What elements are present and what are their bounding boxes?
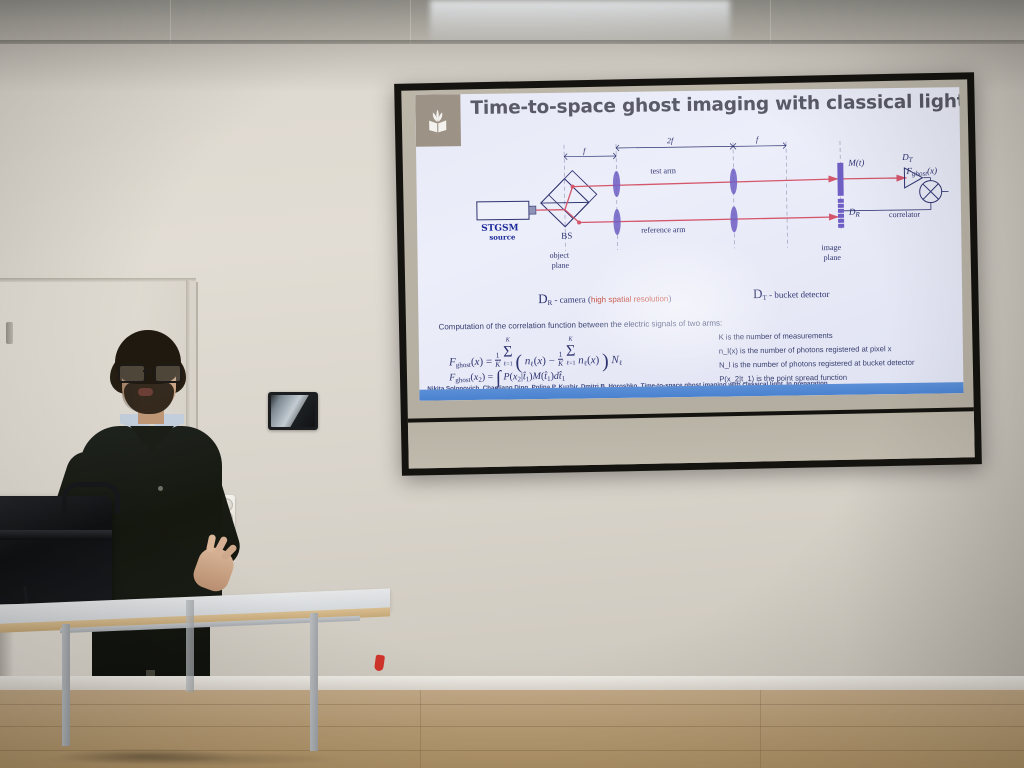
dr-text-highlight: high spatial resolution <box>591 294 669 304</box>
object-plane-label-1: object <box>549 251 569 260</box>
distance-label-f2: f <box>756 135 758 144</box>
projected-slide: Time-to-space ghost imaging with classic… <box>415 87 963 401</box>
door-hinge-upper <box>6 322 13 344</box>
table-leg-left <box>62 624 70 746</box>
object-plane-label-2: plane <box>552 261 569 270</box>
wall-control-panel[interactable] <box>268 392 318 430</box>
wall-control-panel-screen <box>271 395 315 427</box>
speaker-sweater-logo <box>158 486 163 491</box>
test-arm-label: test arm <box>650 166 676 175</box>
speaker-mouth <box>138 388 153 396</box>
reference-arm-label: reference arm <box>641 225 685 235</box>
distance-label-f1: f <box>583 146 585 155</box>
image-plane-label-1: image <box>821 243 841 252</box>
optics-diagram: f 2f f STGSM source BS object plane imag… <box>468 129 950 291</box>
modulator-label: M(t) <box>848 158 864 168</box>
laptop-bag-flap <box>0 530 112 540</box>
distance-label-2f: 2f <box>667 136 673 145</box>
dt-text: - bucket detector <box>767 289 830 300</box>
table-shadow <box>40 752 340 766</box>
glasses-icon <box>118 364 180 379</box>
source-sublabel: source <box>489 232 515 241</box>
detector-t-legend: DT - bucket detector <box>753 285 830 302</box>
optics-diagram-svg <box>468 129 950 291</box>
detector-t-label: DT <box>902 152 913 164</box>
table-leg-right <box>310 613 318 751</box>
table-leg-back <box>186 600 194 692</box>
book-leaf-logo-icon <box>426 108 448 132</box>
slide-title: Time-to-space ghost imaging with classic… <box>470 91 950 119</box>
correlator-label: correlator <box>889 210 920 219</box>
image-plane-label-2: plane <box>824 253 841 262</box>
output-label: Fghost(x) <box>906 166 937 178</box>
dr-text-plain: - camera ( <box>552 294 591 305</box>
projection-screen: Time-to-space ghost imaging with classic… <box>394 72 982 476</box>
laptop-bag-handle[interactable] <box>62 482 120 513</box>
detector-r-label: DR <box>849 207 860 219</box>
presentation-photo: Time-to-space ghost imaging with classic… <box>0 0 1024 768</box>
dr-text-close: ) <box>668 293 671 303</box>
beamsplitter-label: BS <box>561 231 572 241</box>
institution-logo-block <box>415 94 461 147</box>
